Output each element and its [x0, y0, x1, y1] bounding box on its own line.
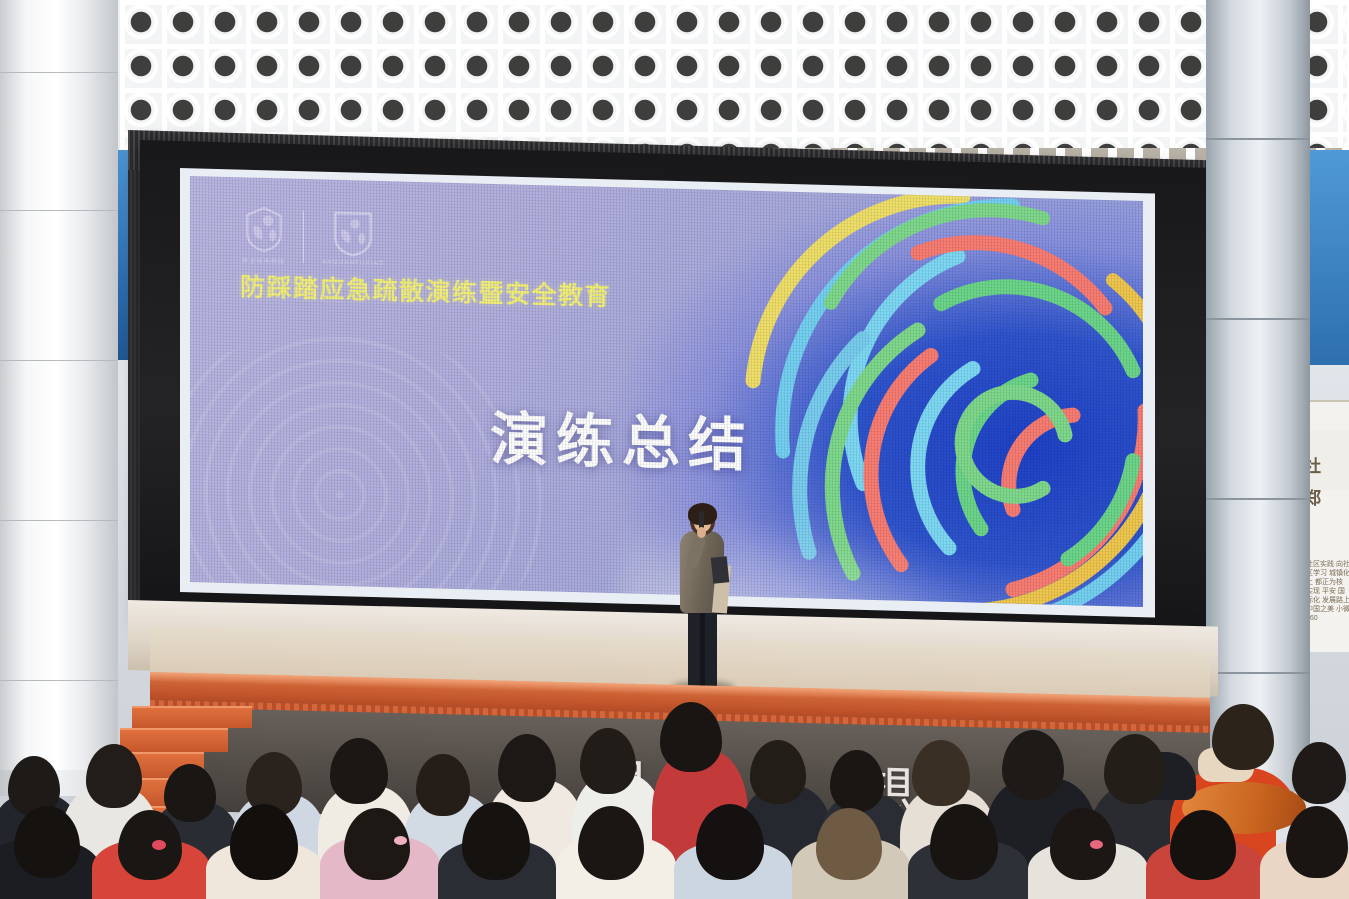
audience-crowd [0, 690, 1349, 899]
poster-body-text: 社区实践 向社区学习 城镇化上 都正为核 实现 平安 国际化 发展路上 中国之美… [1306, 560, 1349, 623]
logo-divider [303, 210, 304, 262]
column-left [0, 0, 118, 790]
presenter-hand [697, 527, 706, 538]
slide-title: 防踩踏应急疏散演练暨安全教育 [240, 267, 611, 313]
slide-logo-row: 安全培训校园 ANQUANFUXIAO [242, 205, 385, 268]
lattice-grid-overlay [120, 0, 1349, 150]
shield-crest-icon [332, 209, 374, 256]
led-screen-display: 安全培训校园 ANQUANFUXIAO 防踩踏应急疏散演练暨安全教育 演练总结 [190, 176, 1143, 607]
logo-right: ANQUANFUXIAO [322, 209, 384, 267]
presenter-folder [711, 556, 730, 584]
logo-left-caption: 安全培训校园 [242, 256, 285, 265]
photo-scene: UNI 社 发 社 郑 社区实践 向社区学习 城镇化上 都正为核 实现 平安 国… [0, 0, 1349, 899]
logo-right-caption: ANQUANFUXIAO [322, 259, 384, 266]
logo-left: 安全培训校园 [242, 205, 285, 265]
presenter [672, 505, 732, 690]
shield-leaf-icon [243, 205, 285, 252]
presenter-trousers [688, 609, 717, 687]
slide-headline: 演练总结 [490, 392, 754, 483]
